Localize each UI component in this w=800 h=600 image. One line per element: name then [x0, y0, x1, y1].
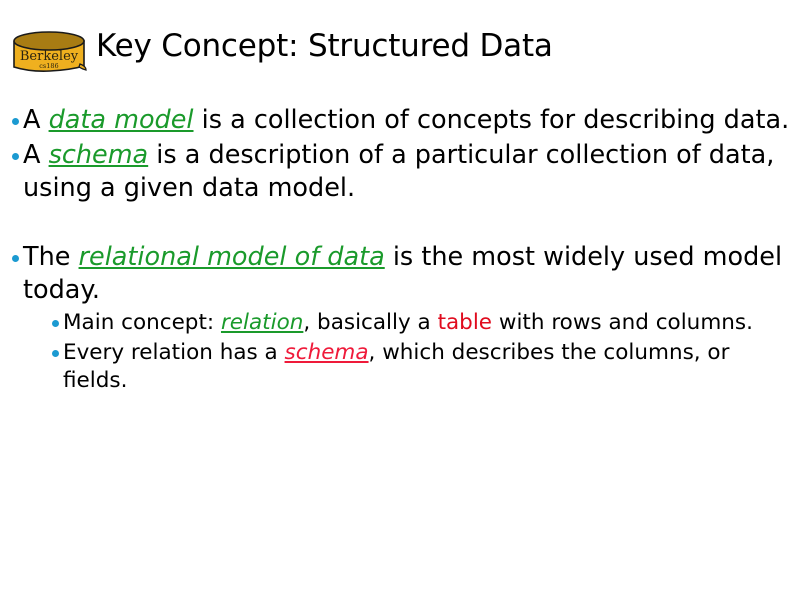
term-emphasis-green: relation: [221, 310, 303, 335]
bullet-item: A schema is a description of a particula…: [10, 139, 790, 205]
slide-title-row: Berkeley cs186 Key Concept: Structured D…: [0, 18, 800, 74]
bullet-item: Main concept: relation, basically a tabl…: [10, 309, 790, 337]
bullet-dot-icon: [52, 350, 59, 357]
bullet-spacer: [10, 207, 790, 241]
bullet-text: Main concept: relation, basically a tabl…: [63, 309, 790, 337]
text-run: The: [23, 242, 79, 272]
term-emphasis-green: schema: [49, 140, 149, 170]
berkeley-cs186-drum-logo: Berkeley cs186: [10, 28, 90, 76]
term-emphasis-red: schema: [285, 340, 369, 365]
text-run: Every relation has a: [63, 340, 285, 365]
text-run: A: [23, 140, 49, 170]
bullet-item: The relational model of data is the most…: [10, 241, 790, 307]
logo-course-text: cs186: [39, 62, 58, 70]
keyword-emphasis-red: table: [438, 310, 492, 335]
bullet-dot-icon: [12, 255, 19, 262]
text-run: with rows and columns.: [492, 310, 753, 335]
bullet-item: Every relation has a schema, which descr…: [10, 339, 790, 395]
bullet-dot-icon: [12, 118, 19, 125]
bullet-text: A schema is a description of a particula…: [23, 139, 790, 205]
bullet-text: Every relation has a schema, which descr…: [63, 339, 790, 395]
text-run: , basically a: [303, 310, 437, 335]
term-emphasis-green: data model: [49, 105, 194, 135]
bullet-text: A data model is a collection of concepts…: [23, 104, 790, 137]
slide-body: A data model is a collection of concepts…: [10, 104, 790, 397]
text-run: is a collection of concepts for describi…: [194, 105, 790, 135]
text-run: A: [23, 105, 49, 135]
page-title: Key Concept: Structured Data: [96, 24, 553, 68]
bullet-dot-icon: [52, 320, 59, 327]
term-emphasis-green: relational model of data: [79, 242, 385, 272]
bullet-item: A data model is a collection of concepts…: [10, 104, 790, 137]
text-run: Main concept:: [63, 310, 221, 335]
bullet-dot-icon: [12, 153, 19, 160]
bullet-text: The relational model of data is the most…: [23, 241, 790, 307]
slide: Berkeley cs186 Key Concept: Structured D…: [0, 0, 800, 600]
